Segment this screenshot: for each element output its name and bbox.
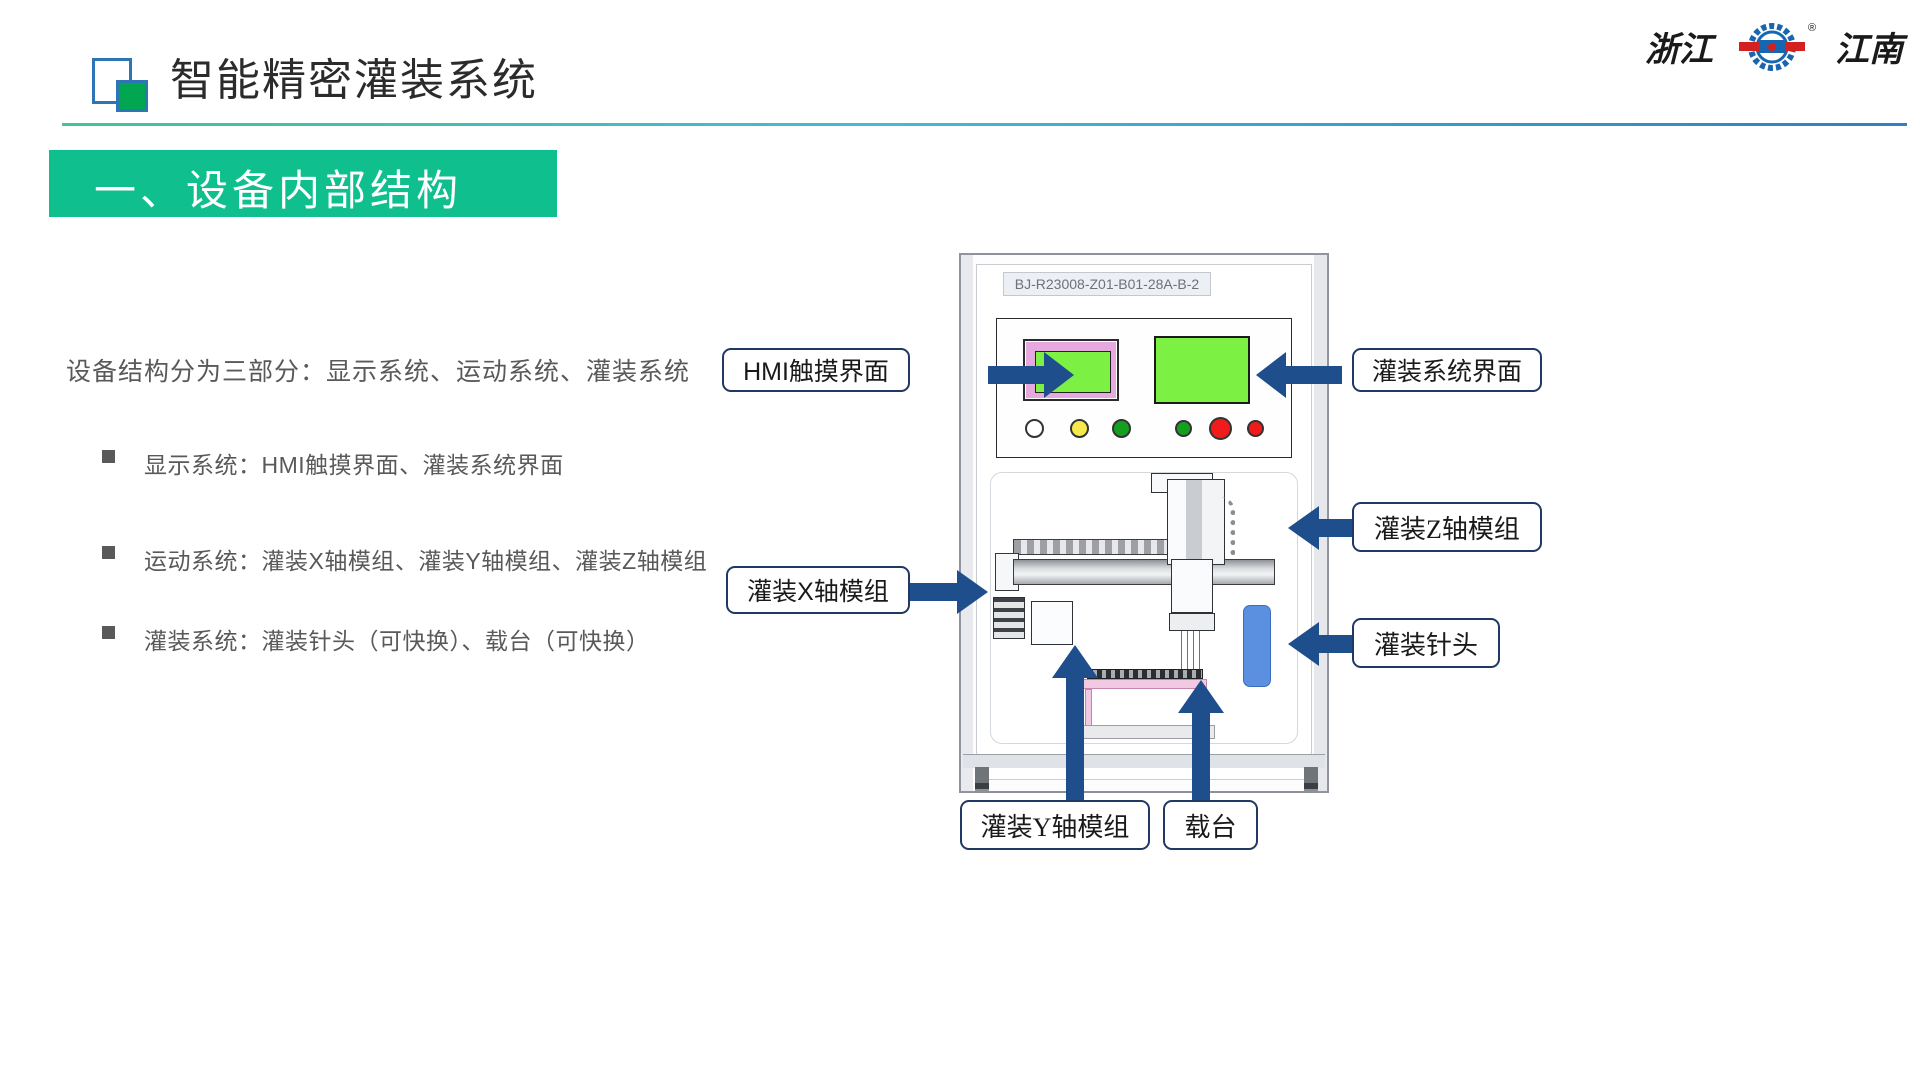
leveling-foot-right [1304,767,1318,793]
model-number-tag: BJ-R23008-Z01-B01-28A-B-2 [1003,272,1211,296]
arrow-filling-ui [1256,352,1342,398]
indicator-white[interactable] [1025,419,1044,438]
indicator-red-1[interactable] [1209,417,1232,440]
company-logo-left-text: 浙江 [1645,22,1713,71]
filling-needles [1181,631,1203,671]
machine-interior [990,472,1298,744]
square-bullet-icon [102,450,115,463]
list-item-label: 显示系统：HMI触摸界面、灌装系统界面 [144,452,564,478]
indicator-green-1[interactable] [1112,419,1131,438]
gear-icon [1737,20,1807,79]
list-item-label: 运动系统：灌装X轴模组、灌装Y轴模组、灌装Z轴模组 [144,548,707,574]
callout-hmi[interactable]: HMI触摸界面 [722,348,910,392]
arrow-hmi [988,352,1074,398]
x-axis-module [1013,559,1275,585]
callout-x-axis[interactable]: 灌装X轴模组 [726,566,910,614]
page-title: 智能精密灌装系统 [170,44,538,108]
cabinet-base [963,754,1325,768]
callout-y-axis[interactable]: 灌装Y轴模组 [960,800,1150,850]
intro-text: 设备结构分为三部分：显示系统、运动系统、灌装系统 [66,352,690,388]
list-item-label: 灌装系统：灌装针头（可快换）、载台（可快换） [144,628,650,654]
leveling-foot-left [975,767,989,793]
green-square-icon [116,80,148,112]
y-axis-cable-stack [993,597,1025,639]
bullet-list: 显示系统：HMI触摸界面、灌装系统界面 运动系统：灌装X轴模组、灌装Y轴模组、灌… [100,440,800,712]
y-axis-module [1031,601,1073,645]
arrow-stage [1178,680,1224,808]
filling-needle-head [1169,613,1215,631]
indicator-green-2[interactable] [1175,420,1192,437]
callout-filling-ui[interactable]: 灌装系统界面 [1352,348,1542,392]
callout-stage[interactable]: 载台 [1163,800,1258,850]
company-logo-right-text: 江南 [1835,22,1903,71]
z-axis-cable-chain [1213,497,1235,555]
filling-system-screen[interactable] [1154,336,1250,404]
brand-squares-icon [92,58,144,110]
callout-needle[interactable]: 灌装针头 [1352,618,1500,668]
indicator-red-2[interactable] [1247,420,1264,437]
indicator-yellow[interactable] [1070,419,1089,438]
square-bullet-icon [102,626,115,639]
section-banner-label: 一、设备内部结构 [94,157,462,218]
list-item: 灌装系统：灌装针头（可快换）、载台（可快换） [100,616,800,666]
square-bullet-icon [102,546,115,559]
machine-diagram: BJ-R23008-Z01-B01-28A-B-2 [900,240,1910,860]
indicator-button-row [997,419,1293,445]
company-logo: 浙江 ® 江南 [1645,18,1910,76]
section-banner: 一、设备内部结构 [49,150,557,217]
page-header: 智能精密灌装系统 浙江 ® 江南 [0,0,1920,126]
list-item: 运动系统：灌装X轴模组、灌装Y轴模组、灌装Z轴模组 [100,536,800,586]
arrow-y-axis [1052,645,1098,807]
fluid-tank [1243,605,1271,687]
stage-tray [1087,669,1203,679]
registered-mark: ® [1808,22,1816,34]
callout-z-axis[interactable]: 灌装Z轴模组 [1352,502,1542,552]
list-item: 显示系统：HMI触摸界面、灌装系统界面 [100,440,800,490]
header-divider [62,123,1907,126]
x-axis-cable-chain [1013,539,1188,555]
z-axis-carriage [1171,559,1213,613]
